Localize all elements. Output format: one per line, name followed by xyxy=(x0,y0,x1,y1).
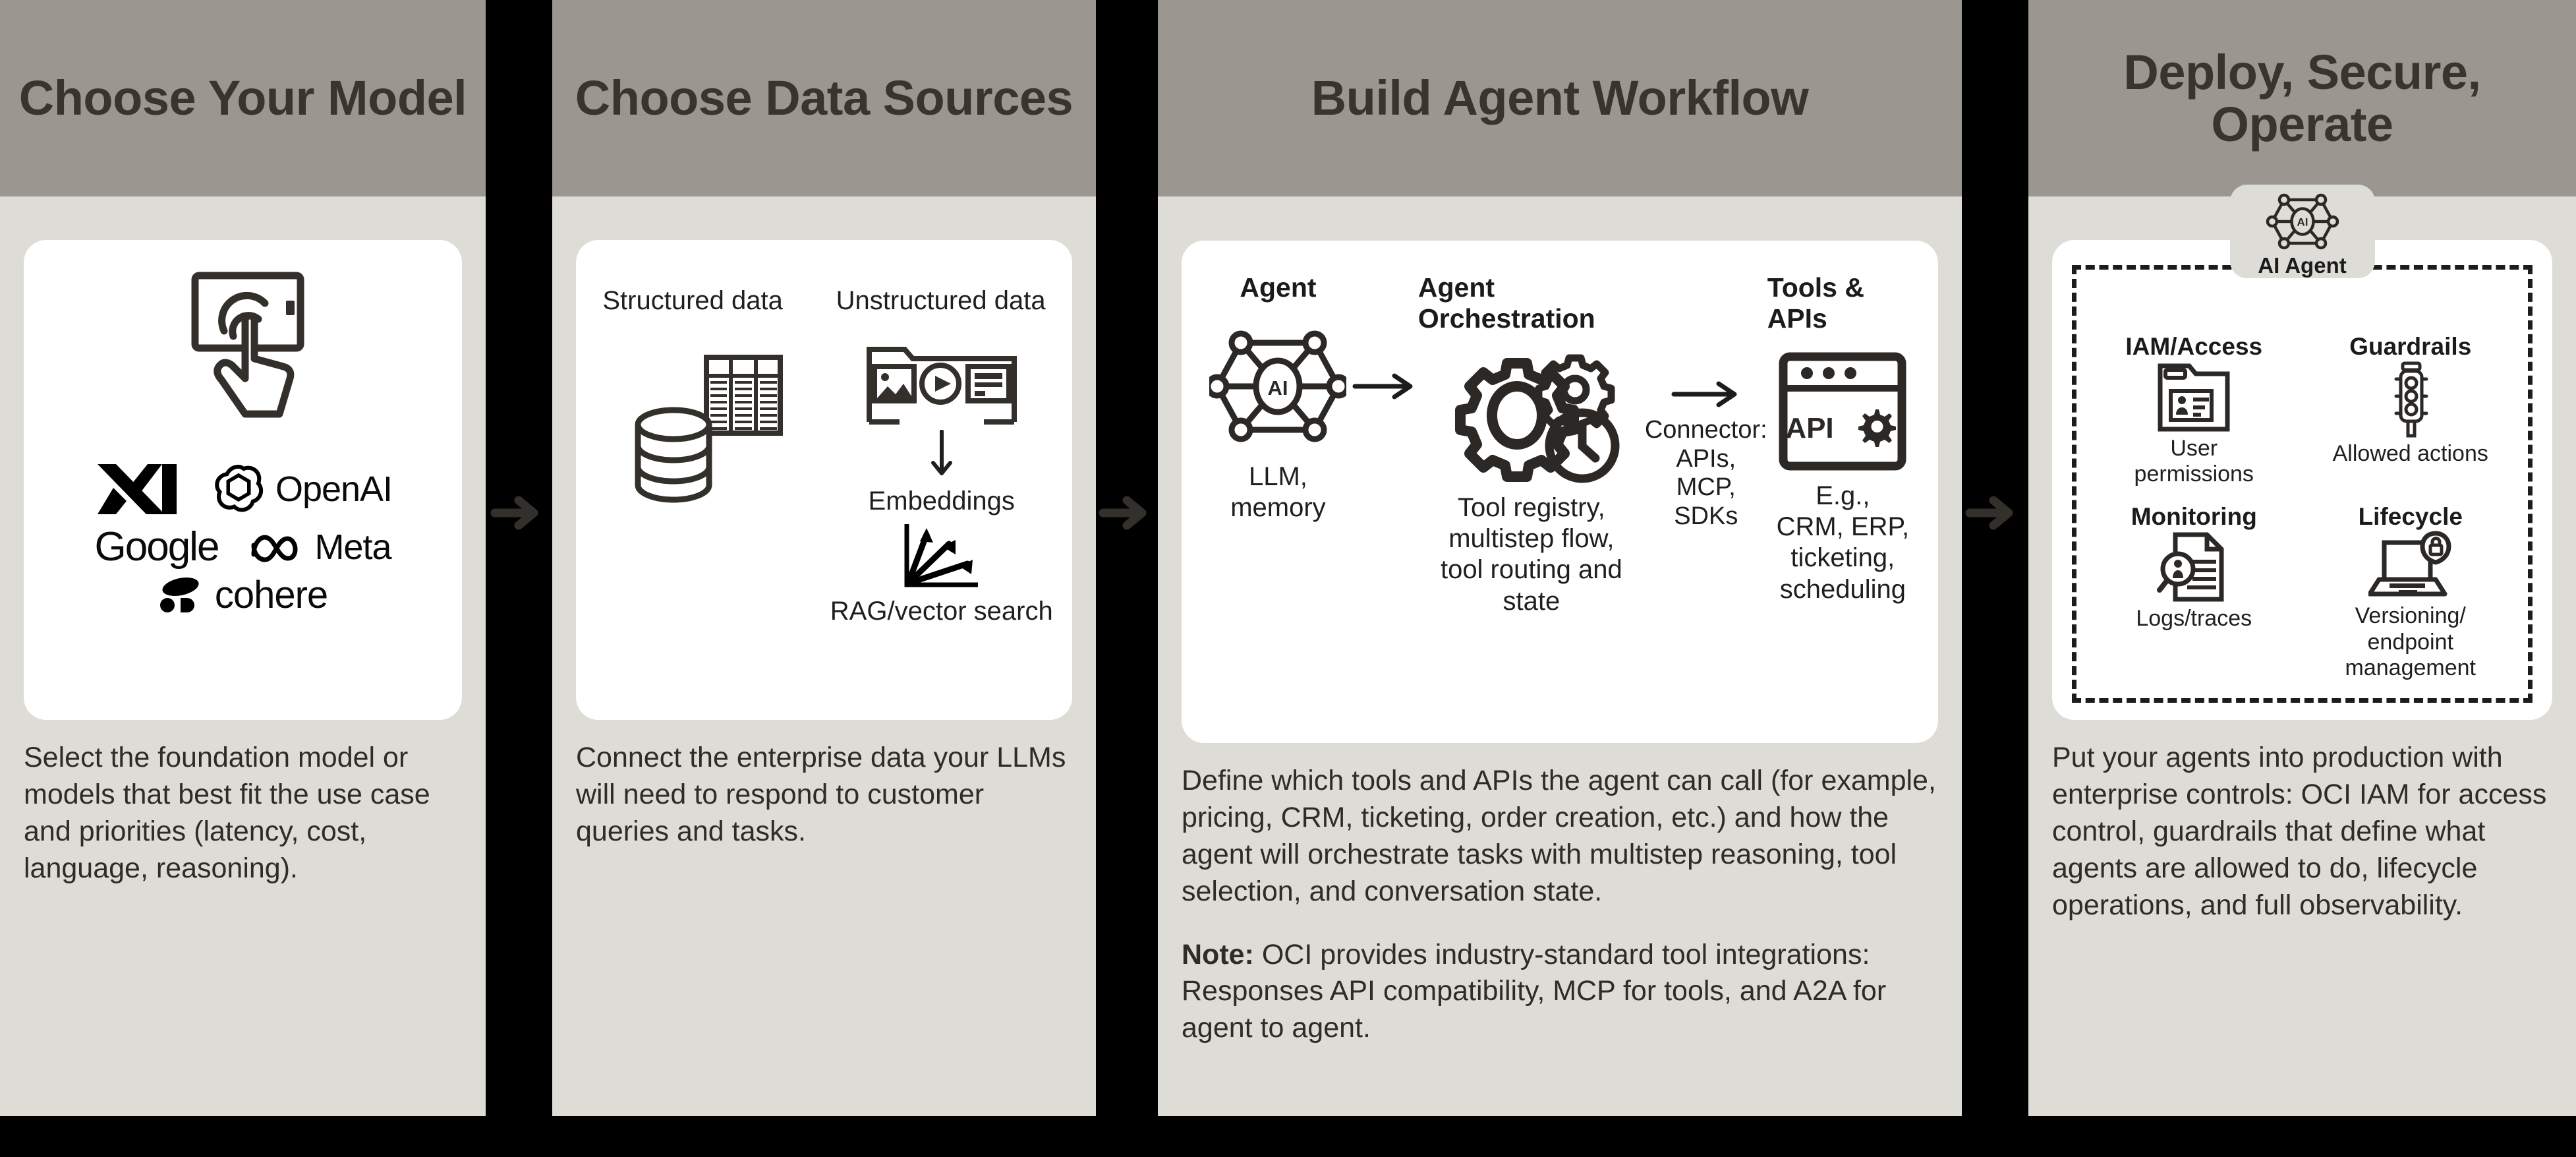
workflow-step-tools-apis: Tools & APIs API xyxy=(1767,272,1918,605)
flow-arrow-2 xyxy=(1094,492,1160,534)
column-body: AI AI Agent IAM/Access xyxy=(2028,196,2576,1116)
laptop-lock-icon xyxy=(2368,531,2453,601)
column-header: Choose Your Model xyxy=(0,0,486,196)
governance-card: AI AI Agent IAM/Access xyxy=(2052,240,2552,720)
caption-text: Select the foundation model or models th… xyxy=(24,740,462,887)
meta-label: Meta xyxy=(314,527,391,568)
column-body: Agent xyxy=(1158,196,1962,1116)
openai-logo: OpenAI xyxy=(211,461,392,517)
agent-workflow-diagram: Agent xyxy=(1182,241,1938,743)
guardrails-sub: Allowed actions xyxy=(2333,441,2488,467)
data-sources-card: Structured data Unstructured data xyxy=(576,240,1072,720)
lifecycle-sub: Versioning/endpointmanagement xyxy=(2345,603,2476,680)
page-title-4: Deploy, Secure, Operate xyxy=(2046,46,2559,150)
id-card-folder-icon xyxy=(2155,361,2233,433)
connector-label: Connector:APIs, MCP,SDKs xyxy=(1645,416,1767,531)
workflow-step-orchestration: Agent Orchestration xyxy=(1418,272,1645,617)
svg-text:API: API xyxy=(1786,412,1834,444)
agent-sub: LLM,memory xyxy=(1230,461,1325,523)
note-text: OCI provides industry-standard tool inte… xyxy=(1182,939,1886,1044)
column-header: Choose Data Sources xyxy=(552,0,1096,196)
column-caption-3: Define which tools and APIs the agent ca… xyxy=(1158,743,1962,1073)
column-body: Structured data Unstructured data xyxy=(552,196,1096,1116)
unstructured-data-group: Embeddings xyxy=(818,339,1066,626)
model-card: OpenAI Google Meta xyxy=(24,240,462,720)
governance-boundary: IAM/Access xyxy=(2072,265,2533,703)
embeddings-label: Embeddings xyxy=(869,487,1015,516)
ai-network-icon: AI xyxy=(1209,320,1346,452)
column-caption-1: Select the foundation model or models th… xyxy=(0,720,486,914)
svg-text:AI: AI xyxy=(2297,216,2308,229)
column-header: Build Agent Workflow xyxy=(1158,0,1962,196)
monitoring-title: Monitoring xyxy=(2131,503,2257,531)
workflow-arrow-1 xyxy=(1352,272,1418,401)
note-label: Note: xyxy=(1182,939,1254,970)
cohere-logo: cohere xyxy=(158,573,328,617)
quadrant-monitoring: Monitoring xyxy=(2086,503,2303,693)
workflow-arrow-2: Connector:APIs, MCP,SDKs xyxy=(1645,272,1767,531)
api-window-icon: API xyxy=(1778,351,1907,471)
down-arrow-icon xyxy=(929,430,955,483)
page-title-3: Build Agent Workflow xyxy=(1311,72,1809,124)
guardrails-title: Guardrails xyxy=(2349,333,2471,361)
caption-text: Connect the enterprise data your LLMs wi… xyxy=(576,740,1072,850)
page-title-2: Choose Data Sources xyxy=(575,72,1073,124)
orchestration-sub: Tool registry,multistep flow,tool routin… xyxy=(1418,492,1645,617)
database-icon xyxy=(594,352,822,507)
google-label: Google xyxy=(95,523,219,570)
column-header: Deploy, Secure, Operate xyxy=(2028,0,2576,196)
touch-screen-icon xyxy=(161,268,326,436)
column-caption-4: Put your agents into production with ent… xyxy=(2028,720,2576,950)
governance-quadrants: IAM/Access xyxy=(2076,270,2528,698)
vector-search-icon xyxy=(899,520,985,593)
rag-vector-search-label: RAG/vector search xyxy=(830,597,1053,626)
flow-arrow-3 xyxy=(1961,492,2026,534)
meta-logo: Meta xyxy=(248,527,391,568)
note-paragraph: Note: OCI provides industry-standard too… xyxy=(1182,937,1938,1048)
tools-apis-sub: E.g.,CRM, ERP,ticketing,scheduling xyxy=(1777,481,1910,605)
column-deploy-secure-operate: Deploy, Secure, Operate xyxy=(2028,0,2576,1116)
quadrant-iam-access: IAM/Access xyxy=(2086,333,2303,499)
column-caption-2: Connect the enterprise data your LLMs wi… xyxy=(552,720,1096,877)
iam-access-title: IAM/Access xyxy=(2125,333,2262,361)
iam-access-sub: Userpermissions xyxy=(2134,436,2254,487)
traffic-light-icon xyxy=(2384,361,2437,438)
column-choose-your-model: Choose Your Model xyxy=(0,0,486,1116)
quadrant-lifecycle: Lifecycle xyxy=(2303,503,2519,693)
caption-text: Put your agents into production with ent… xyxy=(2052,740,2552,924)
gears-clock-icon xyxy=(1440,351,1623,483)
lifecycle-title: Lifecycle xyxy=(2359,503,2463,531)
cohere-label: cohere xyxy=(215,573,328,617)
xai-logo xyxy=(94,458,181,521)
unstructured-data-label: Unstructured data xyxy=(836,286,1046,316)
document-magnifier-icon xyxy=(2156,531,2232,603)
data-source-labels: Structured data Unstructured data xyxy=(576,286,1072,316)
monitoring-sub: Logs/traces xyxy=(2136,606,2252,632)
caption-text: Define which tools and APIs the agent ca… xyxy=(1182,763,1938,910)
flow-arrow-1 xyxy=(486,492,552,534)
quadrant-guardrails: Guardrails xyxy=(2303,333,2519,499)
svg-text:AI: AI xyxy=(1268,376,1288,400)
ai-agent-label: AI Agent xyxy=(2258,253,2346,278)
media-files-icon xyxy=(863,339,1021,426)
infographic-canvas: Choose Your Model xyxy=(0,0,2576,1157)
agent-title: Agent xyxy=(1240,272,1316,303)
ai-agent-chip: AI AI Agent xyxy=(2230,185,2375,278)
google-logo: Google xyxy=(95,523,219,570)
column-body: OpenAI Google Meta xyxy=(0,196,486,1116)
workflow-step-agent: Agent xyxy=(1204,272,1352,523)
column-build-agent-workflow: Build Agent Workflow Agent xyxy=(1158,0,1962,1116)
column-choose-data-sources: Choose Data Sources Structured data Unst… xyxy=(552,0,1096,1116)
page-title-1: Choose Your Model xyxy=(19,72,467,124)
workflow-card: Agent xyxy=(1182,241,1938,743)
openai-label: OpenAI xyxy=(275,469,392,510)
structured-data-label: Structured data xyxy=(602,286,783,316)
model-vendor-logos: OpenAI Google Meta xyxy=(24,458,462,617)
orchestration-title: Agent Orchestration xyxy=(1418,272,1645,334)
tools-apis-title: Tools & APIs xyxy=(1767,272,1918,334)
